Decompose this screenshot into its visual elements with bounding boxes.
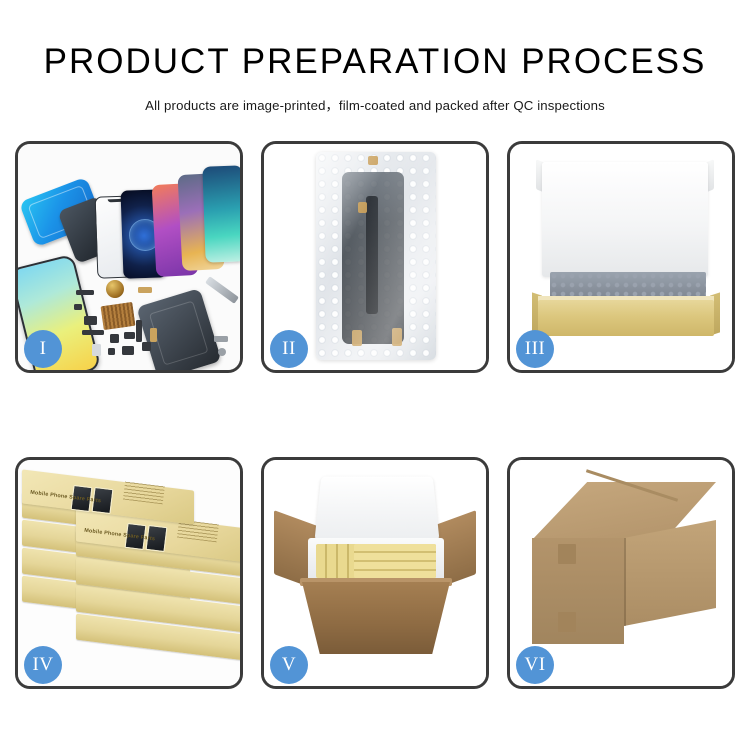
- step-badge-2: II: [270, 330, 308, 368]
- spare-part: [82, 330, 104, 335]
- kraft-box-front: [538, 300, 714, 336]
- step-badge-4: IV: [24, 646, 62, 684]
- carton-side-face: [624, 520, 716, 626]
- tape-tab: [392, 328, 402, 346]
- tape-tab: [352, 330, 362, 346]
- spare-part: [138, 287, 152, 293]
- spare-part: [74, 304, 82, 310]
- process-step-3: III: [507, 141, 735, 373]
- phone-teal: [202, 165, 240, 262]
- spare-part: [122, 346, 134, 355]
- logic-board-chip: [100, 302, 135, 330]
- spare-part: [84, 316, 97, 325]
- foam-lid-open: [314, 476, 439, 541]
- page-title: PRODUCT PREPARATION PROCESS: [0, 44, 750, 79]
- spare-part: [142, 342, 151, 351]
- step-badge-3: III: [516, 330, 554, 368]
- wrapped-part-strip: [366, 196, 378, 314]
- screwdriver-tool: [205, 276, 239, 304]
- bubble-wrap-bag: [316, 152, 436, 360]
- white-foam-lid: [542, 162, 708, 277]
- carton-tape-patch: [558, 612, 576, 632]
- spare-part: [124, 332, 135, 339]
- spare-part: [136, 320, 142, 342]
- spare-part: [76, 290, 94, 295]
- step-badge-6: VI: [516, 646, 554, 684]
- camera-lens-part: [106, 280, 124, 298]
- process-step-4: Mobile Phone Spare Parts Mobile Phone Sp…: [15, 457, 243, 689]
- process-step-1: I: [15, 141, 243, 373]
- spare-part: [214, 336, 228, 342]
- spare-part: [92, 344, 101, 356]
- header: PRODUCT PREPARATION PROCESS All products…: [0, 0, 750, 114]
- process-step-2: II: [261, 141, 489, 373]
- page-subtitle: All products are image-printed，film-coat…: [0, 95, 750, 114]
- step-badge-1: I: [24, 330, 62, 368]
- product-preparation-infographic: PRODUCT PREPARATION PROCESS All products…: [0, 0, 750, 750]
- kraft-boxes-row: [354, 544, 436, 578]
- tape-tab: [368, 156, 378, 165]
- carton-front-face: [532, 538, 624, 644]
- step-badge-5: V: [270, 646, 308, 684]
- tape-tab: [358, 202, 367, 213]
- carton-tape-patch: [558, 544, 576, 564]
- spare-part: [218, 348, 226, 356]
- process-step-6: VI: [507, 457, 735, 689]
- spare-part: [150, 328, 157, 342]
- carton-body: [302, 582, 450, 654]
- process-step-grid: I II: [15, 141, 735, 681]
- spare-part: [108, 348, 115, 355]
- box-stack: Mobile Phone Spare Parts Mobile Phone Sp…: [20, 478, 240, 674]
- spare-part: [110, 334, 119, 343]
- process-step-5: V: [261, 457, 489, 689]
- carton-corner-crease: [624, 538, 626, 626]
